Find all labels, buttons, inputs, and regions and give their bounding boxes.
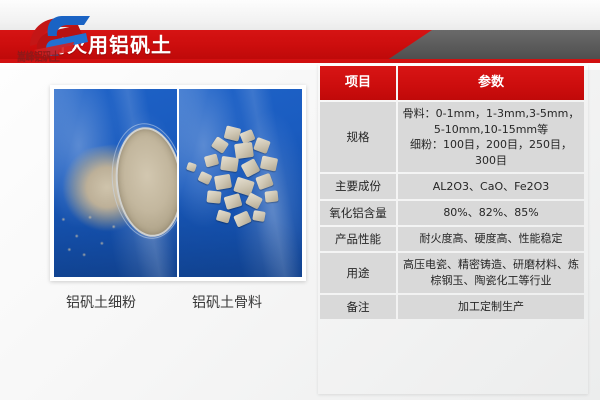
photo-pair [54,89,302,277]
caption-fine-powder: 铝矾土细粉 [66,292,136,312]
caption-aggregate: 铝矾土骨料 [192,292,262,312]
table-cell-parameter: 骨料：0-1mm，1-3mm,3-5mm，5-10mm,10-15mm等细粉：1… [398,102,584,172]
table-row: 氧化铝含量80%、82%、85% [320,201,584,225]
product-photo-panel [50,85,306,281]
table-cell-item: 氧化铝含量 [320,201,396,225]
table-row: 备注加工定制生产 [320,295,584,319]
table-cell-item: 规格 [320,102,396,172]
table-row: 规格骨料：0-1mm，1-3mm,3-5mm，5-10mm,10-15mm等细粉… [320,102,584,172]
table-cell-item: 主要成份 [320,174,396,198]
table-row: 主要成份AL2O3、CaO、Fe2O3 [320,174,584,198]
table-body: 规格骨料：0-1mm，1-3mm,3-5mm，5-10mm,10-15mm等细粉… [320,102,584,319]
table-cell-parameter: 80%、82%、85% [398,201,584,225]
table-header-parameter: 参数 [398,66,584,100]
table-row: 产品性能耐火度高、硬度高、性能稳定 [320,227,584,251]
table-cell-item: 用途 [320,253,396,292]
table-cell-parameter: 加工定制生产 [398,295,584,319]
table-cell-parameter: 高压电瓷、精密铸造、研磨材料、炼棕钢玉、陶瓷化工等行业 [398,253,584,292]
table-cell-parameter: 耐火度高、硬度高、性能稳定 [398,227,584,251]
table-cell-parameter: AL2O3、CaO、Fe2O3 [398,174,584,198]
table-header-row: 项目 参数 [320,66,584,100]
aggregate-chunks-group [195,125,291,237]
table-cell-item: 产品性能 [320,227,396,251]
table-header: 项目 参数 [320,66,584,100]
table-header-item: 项目 [320,66,396,100]
logo-subtext: 嵩峰铝矾土 [17,48,91,64]
bauxite-fine-powder-photo [54,89,177,277]
table-cell-item: 备注 [320,295,396,319]
page-header: 耐火用铝矾土 嵩峰铝矾土 [0,0,600,70]
powder-scatter-shape [56,209,130,261]
specification-table: 项目 参数 规格骨料：0-1mm，1-3mm,3-5mm，5-10mm,10-1… [318,64,586,321]
bauxite-aggregate-photo [177,89,302,277]
table-row: 用途高压电瓷、精密铸造、研磨材料、炼棕钢玉、陶瓷化工等行业 [320,253,584,292]
